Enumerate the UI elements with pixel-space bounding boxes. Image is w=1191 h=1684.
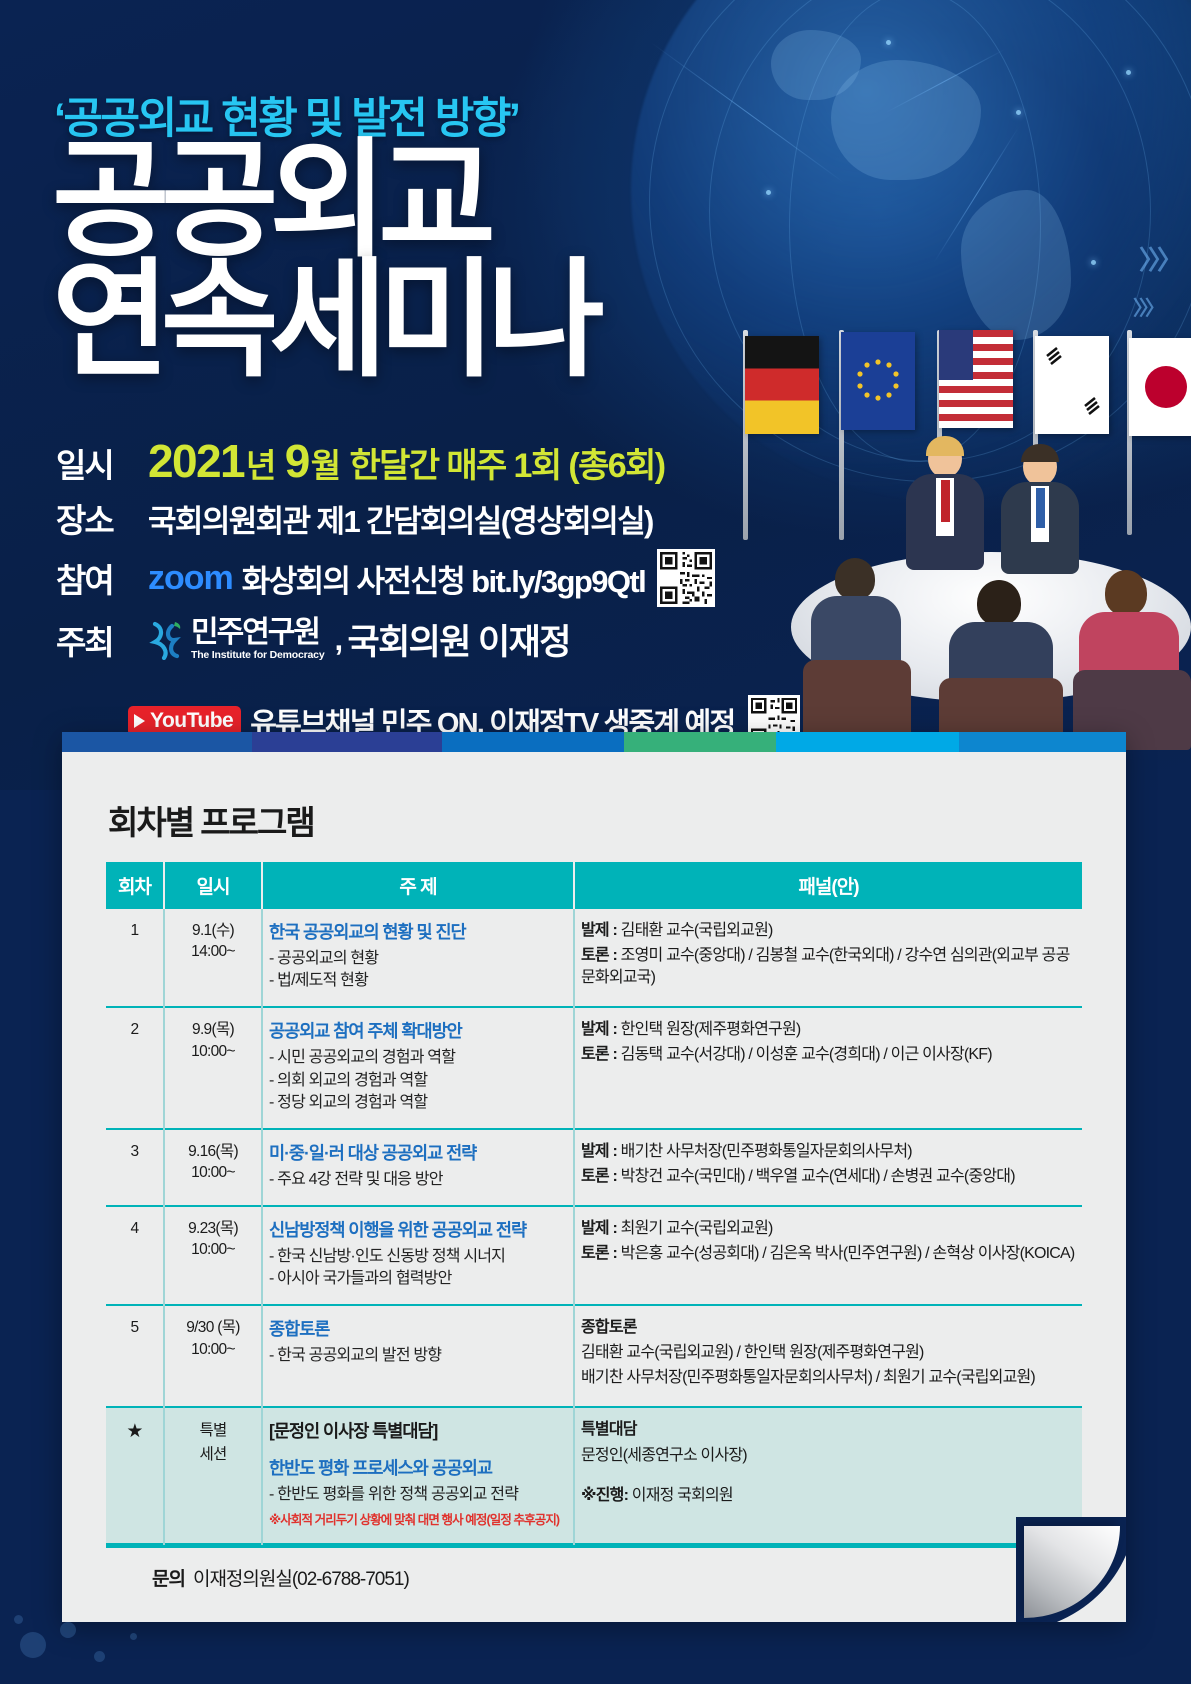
info-row-place: 장소 국회의원회관 제1 간담회의실(영상회의실) xyxy=(56,494,756,542)
table-body: 19.1(수)14:00~한국 공공외교의 현황 및 진단- 공공외교의 현황-… xyxy=(106,908,1082,1544)
flag-japan xyxy=(1129,338,1191,436)
color-bar-segment-2 xyxy=(252,732,442,752)
decor-dot xyxy=(20,1632,46,1658)
institute-mark-icon xyxy=(148,620,186,660)
cell-panel-special: 특별대담문정인(세종연구소 이사장)※진행: 이재정 국회의원 xyxy=(574,1407,1082,1544)
cell-date: 9.16(목)10:00~ xyxy=(164,1129,262,1206)
institute-name-ko: 민주연구원 xyxy=(191,618,324,648)
chevron-right-icon: 〉〉〉 xyxy=(1133,292,1161,321)
date-year-suffix: 년 xyxy=(246,439,275,487)
cell-date: 9.1(수)14:00~ xyxy=(164,908,262,1007)
color-bar-segment-5 xyxy=(776,732,958,752)
page-curl xyxy=(1016,1517,1126,1622)
program-title: 회차별 프로그램 xyxy=(108,796,1082,844)
cell-no: 3 xyxy=(106,1129,164,1206)
chevron-right-icon: 〉〉〉 xyxy=(1139,240,1179,277)
info-label-date: 일시 xyxy=(56,439,148,487)
cell-topic: 공공외교 참여 주체 확대방안- 시민 공공외교의 경험과 역할- 의회 외교의… xyxy=(262,1007,574,1128)
date-rest: 한달간 매주 1회 (총6회) xyxy=(349,438,664,487)
cell-topic-special: [문정인 이사장 특별대담]한반도 평화 프로세스와 공공외교- 한반도 평화를… xyxy=(262,1407,574,1544)
col-header-panel: 패널(안) xyxy=(574,863,1082,908)
decor-dot xyxy=(60,1622,76,1638)
network-node xyxy=(1091,260,1096,265)
info-label-join: 참여 xyxy=(56,554,148,602)
cell-date: 9.9(목)10:00~ xyxy=(164,1007,262,1128)
poster-title-line1: 공공외교 xyxy=(52,142,487,260)
cell-date: 9.23(목)10:00~ xyxy=(164,1206,262,1305)
network-node xyxy=(1126,70,1131,75)
contact-line: 문의이재정의원실(02-6788-7051) xyxy=(106,1548,1082,1591)
info-label-place: 장소 xyxy=(56,494,148,542)
date-year: 2021 xyxy=(148,438,244,484)
flag-usa xyxy=(939,330,1013,428)
cell-no-star: ★ xyxy=(106,1407,164,1544)
info-label-host: 주최 xyxy=(56,616,148,664)
contact-label: 문의 xyxy=(152,1569,185,1590)
cell-no: 4 xyxy=(106,1206,164,1305)
cell-date: 9/30 (목)10:00~ xyxy=(164,1305,262,1407)
zoom-logo: zoom xyxy=(148,559,233,598)
date-month: 9 xyxy=(285,438,309,484)
flag-korea xyxy=(1035,336,1109,434)
color-bar-strip xyxy=(62,732,1126,752)
color-bar-segment-6 xyxy=(959,732,1126,752)
cell-date-special: 특별세션 xyxy=(164,1407,262,1544)
hero-banner: 〉〉〉 〉〉〉 ‘공공외교 현황 및 발전 방향’ 공공외교 연속세미나 xyxy=(0,0,1191,790)
network-node xyxy=(1016,110,1021,115)
color-bar-segment-1 xyxy=(62,732,252,752)
cell-topic: 한국 공공외교의 현황 및 진단- 공공외교의 현황- 법/제도적 현황 xyxy=(262,908,574,1007)
poster-title-line2: 연속세미나 xyxy=(52,262,596,380)
info-value-join: 화상회의 사전신청 bit.ly/3gp9Qtl xyxy=(242,556,645,601)
cell-panel: 발제 : 최원기 교수(국립외교원)토론 : 박은홍 교수(성공회대) / 김은… xyxy=(574,1206,1082,1305)
cell-no: 5 xyxy=(106,1305,164,1407)
cell-panel: 종합토론김태환 교수(국립외교원) / 한인택 원장(제주평화연구원)배기찬 사… xyxy=(574,1305,1082,1407)
col-header-topic: 주 제 xyxy=(262,863,574,908)
democracy-institute-logo: 민주연구원 The Institute for Democracy xyxy=(148,618,324,661)
contact-value: 이재정의원실(02-6788-7051) xyxy=(193,1569,409,1590)
cell-topic: 종합토론- 한국 공공외교의 발전 방향 xyxy=(262,1305,574,1407)
col-header-date: 일시 xyxy=(164,863,262,908)
host-person: 국회의원 이재정 xyxy=(347,614,569,665)
table-row: 59/30 (목)10:00~종합토론- 한국 공공외교의 발전 방향종합토론김… xyxy=(106,1305,1082,1407)
chair xyxy=(803,660,911,740)
qr-code-registration[interactable] xyxy=(657,549,715,607)
event-info: 일시 2021년 9월 한달간 매주 1회 (총6회) 장소 국회의원회관 제1… xyxy=(56,438,756,672)
cell-panel: 발제 : 배기찬 사무처장(민주평화통일자문회의사무처)토론 : 박창건 교수(… xyxy=(574,1129,1082,1206)
institute-name-en: The Institute for Democracy xyxy=(191,650,324,661)
program-panel: 회차별 프로그램 회차 일시 주 제 패널(안) 19.1(수)14:00~한국… xyxy=(62,732,1126,1622)
table-row-special: ★특별세션[문정인 이사장 특별대담]한반도 평화 프로세스와 공공외교- 한반… xyxy=(106,1407,1082,1544)
cell-panel: 발제 : 김태환 교수(국립외교원)토론 : 조영미 교수(중앙대) / 김봉철… xyxy=(574,908,1082,1007)
cell-no: 1 xyxy=(106,908,164,1007)
color-bar-segment-4 xyxy=(624,732,776,752)
cell-topic: 신남방정책 이행을 위한 공공외교 전략- 한국 신남방·인도 신동방 정책 시… xyxy=(262,1206,574,1305)
youtube-label: YouTube xyxy=(150,709,233,733)
table-row: 29.9(목)10:00~공공외교 참여 주체 확대방안- 시민 공공외교의 경… xyxy=(106,1007,1082,1128)
color-bar-segment-3 xyxy=(442,732,624,752)
decor-dot xyxy=(130,1633,137,1640)
info-row-host: 주최 민주연구원 The Institute for Democracy , 국… xyxy=(56,614,756,665)
host-comma: , xyxy=(334,622,341,658)
info-row-join: 참여 zoom 화상회의 사전신청 bit.ly/3gp9Qtl xyxy=(56,549,756,607)
program-table: 회차 일시 주 제 패널(안) 19.1(수)14:00~한국 공공외교의 현황… xyxy=(106,862,1082,1545)
table-row: 19.1(수)14:00~한국 공공외교의 현황 및 진단- 공공외교의 현황-… xyxy=(106,908,1082,1007)
table-row: 39.16(목)10:00~미·중·일·러 대상 공공외교 전략- 주요 4강 … xyxy=(106,1129,1082,1206)
network-node xyxy=(766,190,771,195)
col-header-no: 회차 xyxy=(106,863,164,908)
network-node xyxy=(886,40,891,45)
table-header: 회차 일시 주 제 패널(안) xyxy=(106,863,1082,908)
info-value-place: 국회의원회관 제1 간담회의실(영상회의실) xyxy=(148,496,653,541)
cell-panel: 발제 : 한인택 원장(제주평화연구원)토론 : 김동택 교수(서강대) / 이… xyxy=(574,1007,1082,1128)
decor-dot xyxy=(94,1651,105,1662)
decor-dot xyxy=(14,1615,23,1624)
table-row: 49.23(목)10:00~신남방정책 이행을 위한 공공외교 전략- 한국 신… xyxy=(106,1206,1082,1305)
cell-no: 2 xyxy=(106,1007,164,1128)
flag-germany xyxy=(745,336,819,434)
date-month-suffix: 월 xyxy=(311,439,340,487)
cell-topic: 미·중·일·러 대상 공공외교 전략- 주요 4강 전략 및 대응 방안 xyxy=(262,1129,574,1206)
table-header-row: 회차 일시 주 제 패널(안) xyxy=(106,863,1082,908)
flag-eu xyxy=(841,332,915,430)
info-row-date: 일시 2021년 9월 한달간 매주 1회 (총6회) xyxy=(56,438,756,487)
